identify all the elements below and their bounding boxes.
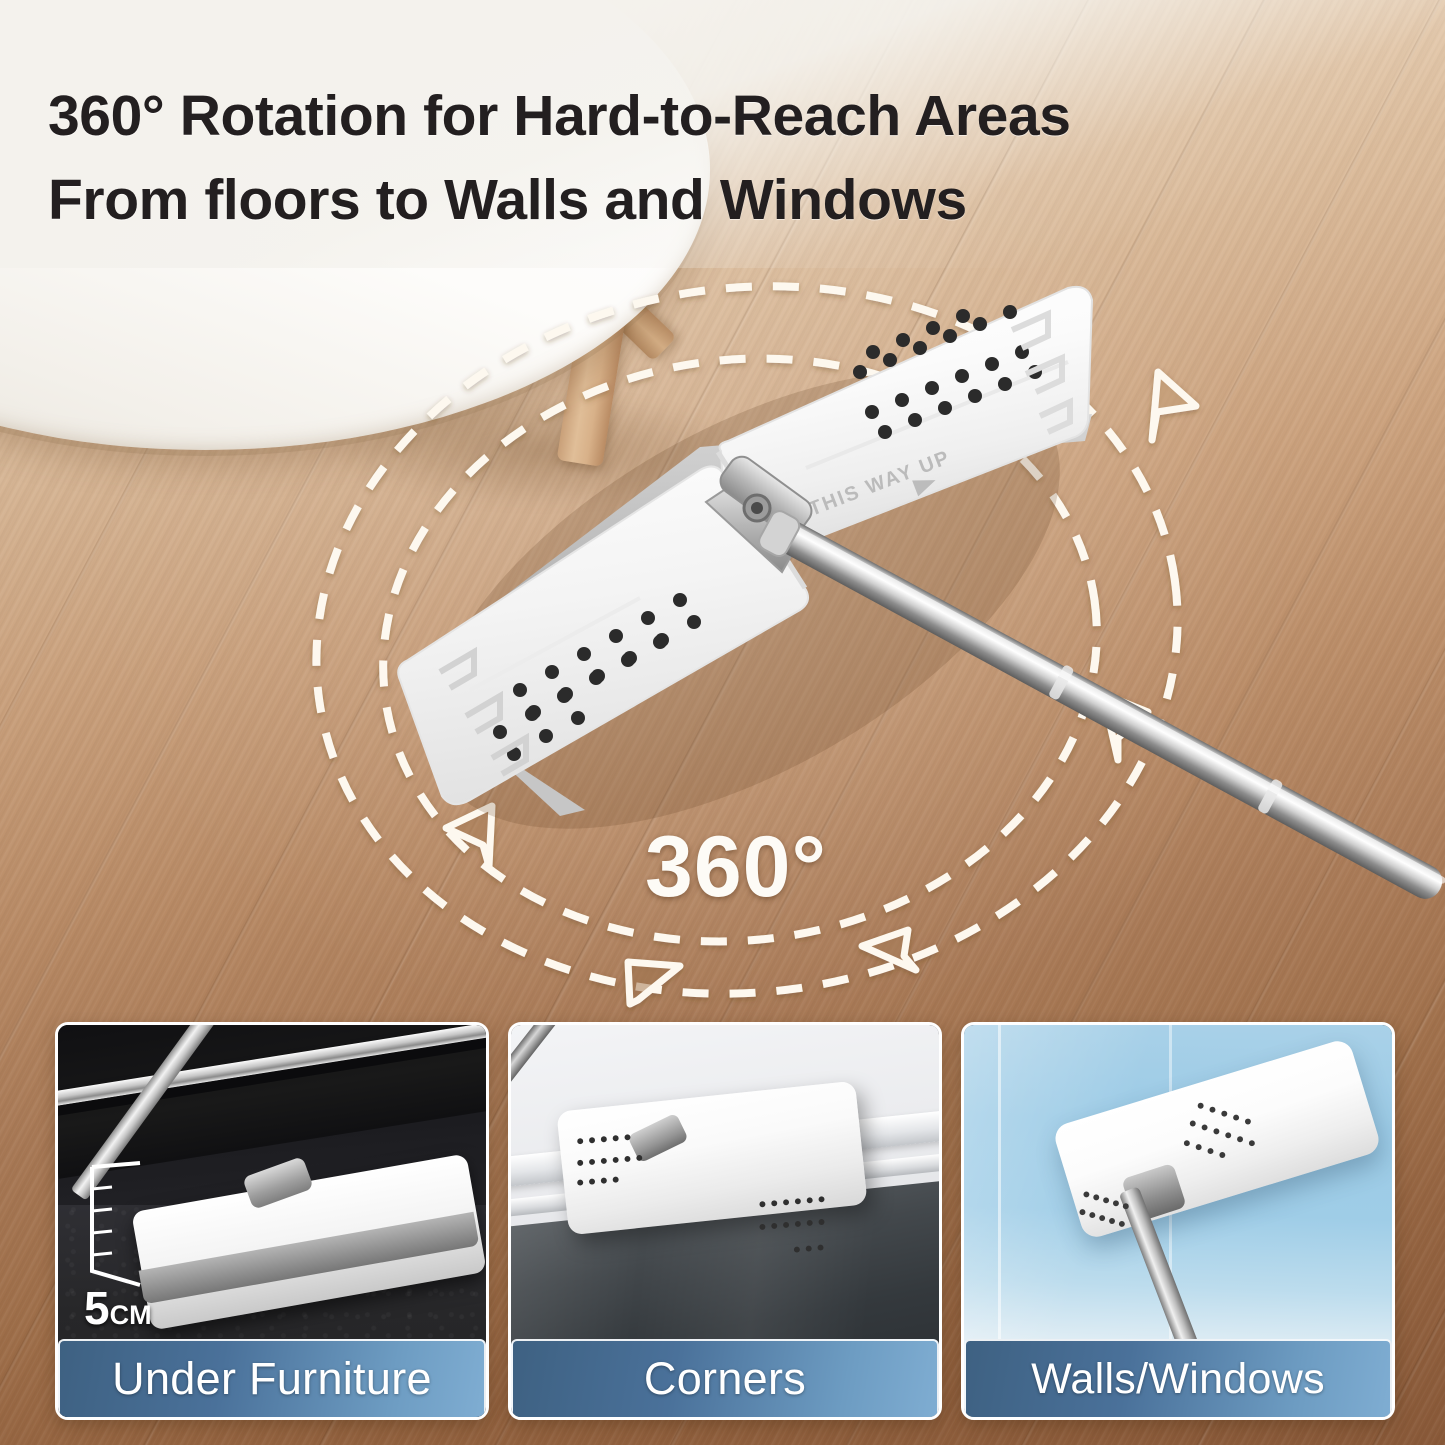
measurement-value: 5 bbox=[84, 1282, 110, 1334]
clearance-ruler-icon bbox=[86, 1161, 144, 1289]
thumbnail-walls-windows[interactable]: Walls/Windows bbox=[961, 1022, 1395, 1420]
clearance-measurement-label: 5CM bbox=[84, 1281, 152, 1335]
caption-corners: Corners bbox=[511, 1339, 939, 1417]
mop-swivel-rivet-core bbox=[751, 502, 763, 514]
caption-walls-windows: Walls/Windows bbox=[964, 1339, 1392, 1417]
measurement-unit: CM bbox=[110, 1300, 152, 1330]
feature-image-canvas: 360° bbox=[0, 0, 1445, 1445]
feature-thumbnail-row: 5CM Under Furniture bbox=[55, 1022, 1395, 1422]
caption-under-furniture: Under Furniture bbox=[58, 1339, 486, 1417]
thumbnail-corners[interactable]: Corners bbox=[508, 1022, 942, 1420]
thumbnail-under-furniture[interactable]: 5CM Under Furniture bbox=[55, 1022, 489, 1420]
